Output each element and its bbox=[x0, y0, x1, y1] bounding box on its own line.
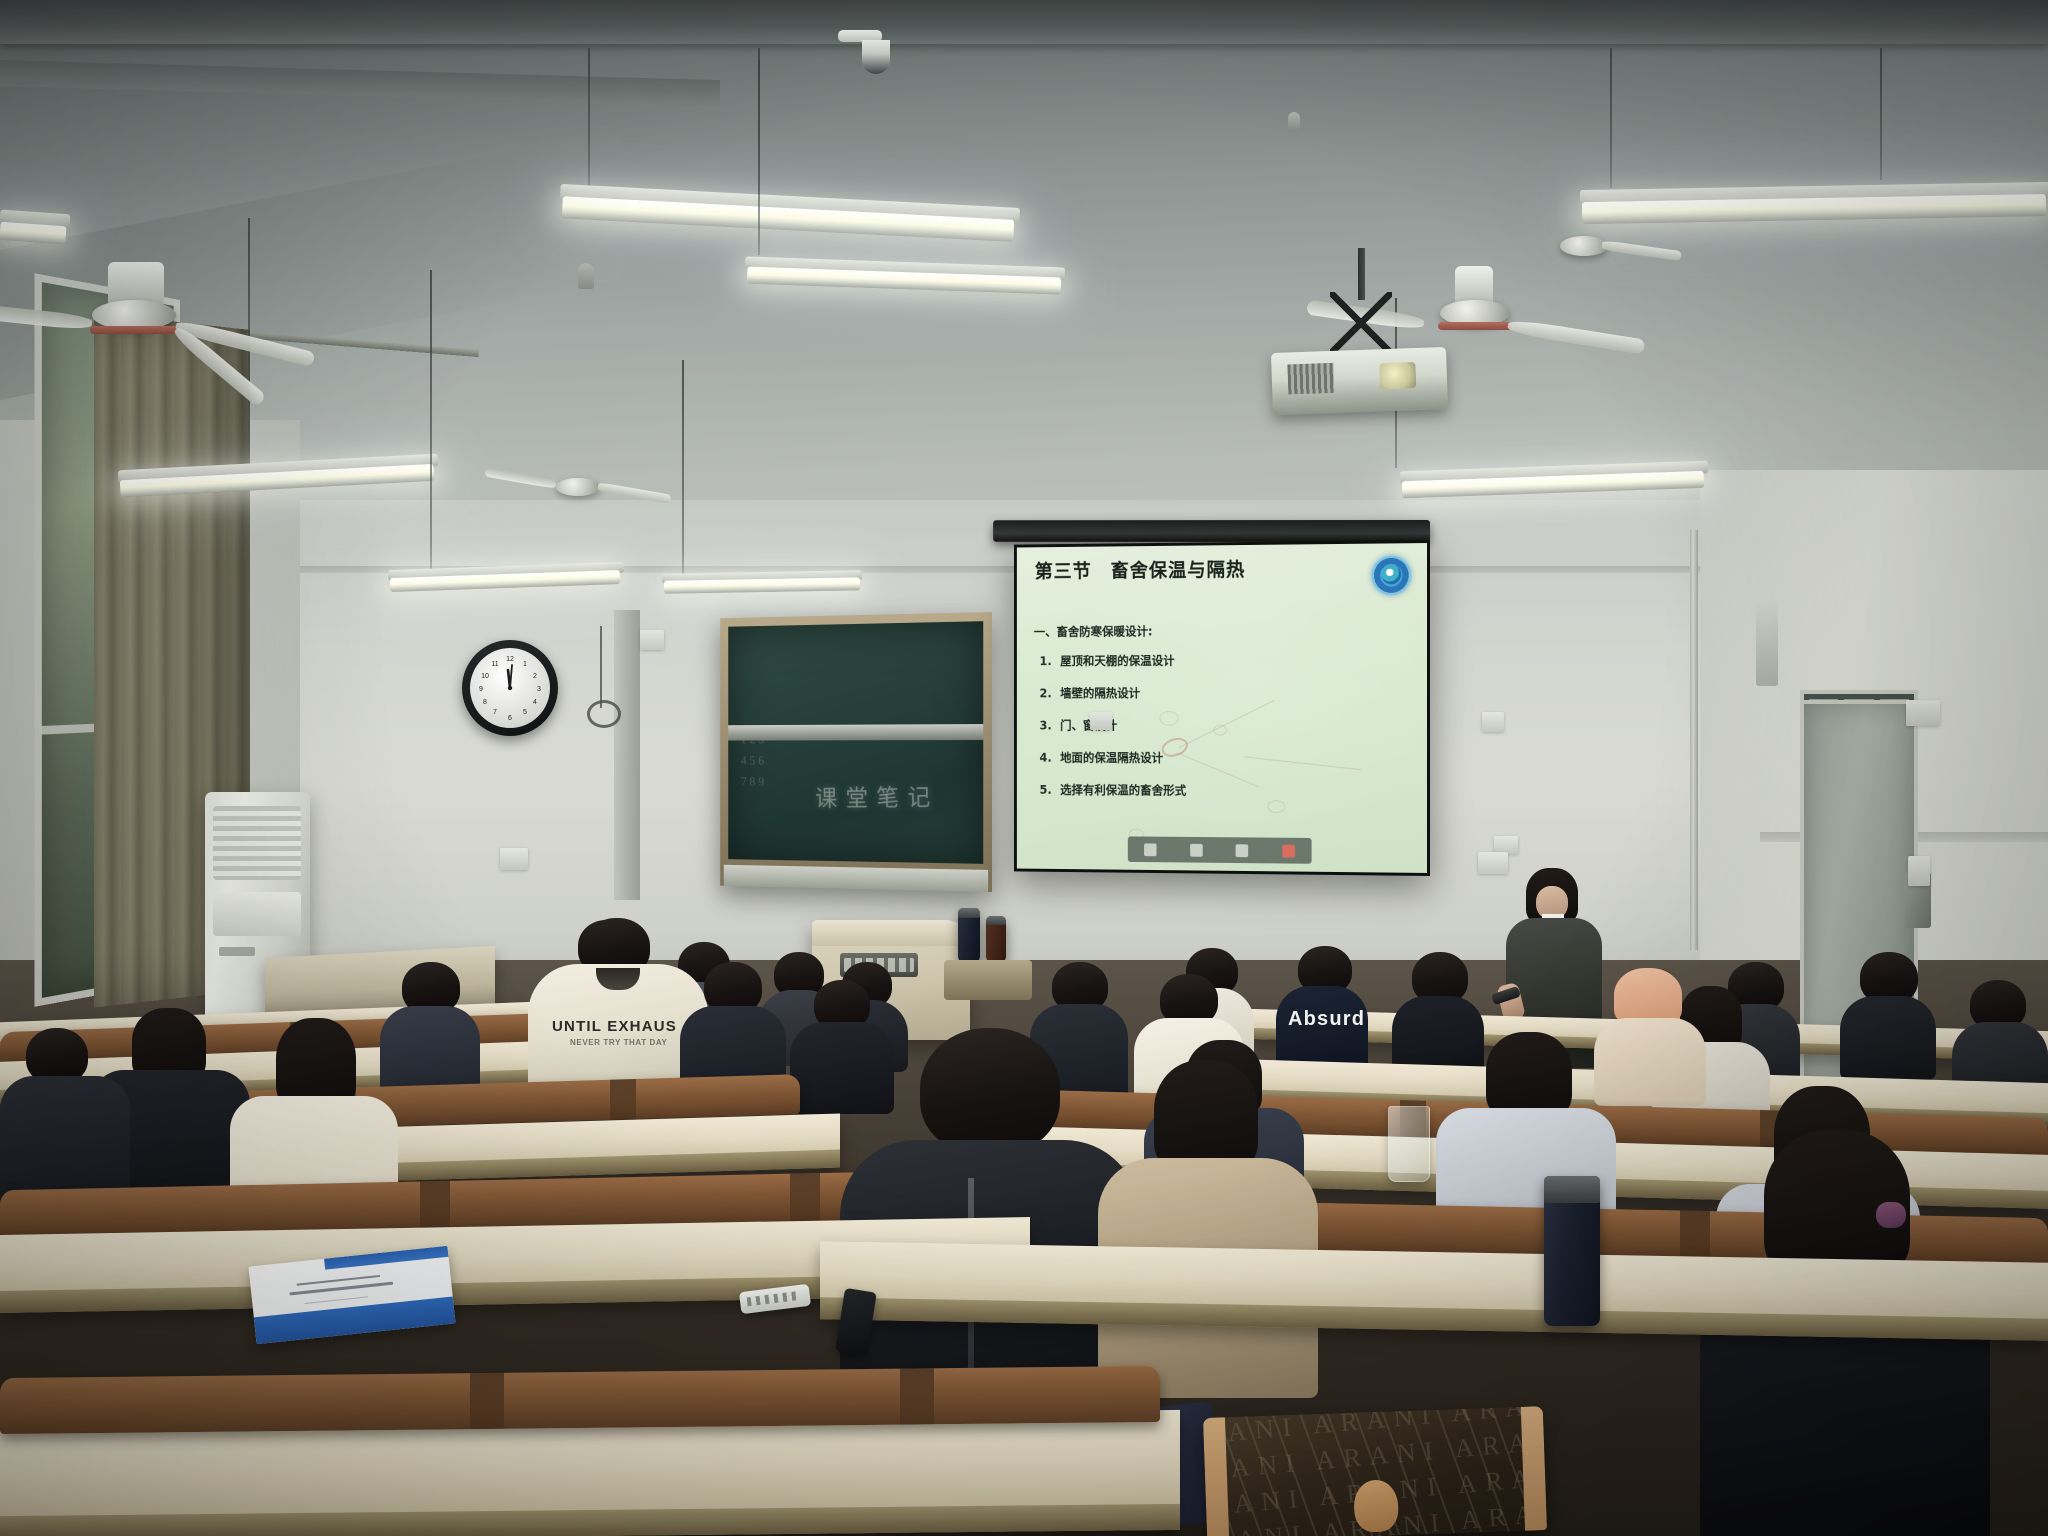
wall-speaker bbox=[1756, 600, 1778, 686]
svg-text:10: 10 bbox=[481, 673, 489, 680]
light-hanger-wire bbox=[758, 60, 760, 255]
security-camera bbox=[862, 40, 890, 74]
hoodie-main-text: UNTIL EXHAUS bbox=[552, 1018, 677, 1035]
university-emblem-icon bbox=[1372, 555, 1412, 595]
svg-text:11: 11 bbox=[491, 661, 498, 668]
slide-subtitle: 一、畜舍防寒保暖设计: bbox=[1034, 623, 1153, 640]
presentation-slide[interactable]: 第三节 畜舍保温与隔热 一、畜舍防寒保暖设计: 1. 屋顶和天棚的保温设计 2.… bbox=[1017, 543, 1427, 873]
classroom-photo: 1212 345 678 91011 课堂笔记 1 2 3 4 5 6 7 8 … bbox=[0, 0, 2048, 1536]
slide-bullet-number: 4. bbox=[1039, 751, 1051, 765]
grid-view-button[interactable] bbox=[1190, 843, 1203, 856]
blackboard: 课堂笔记 1 2 3 4 5 6 7 8 9 bbox=[720, 612, 992, 892]
pull-chain-ring[interactable] bbox=[587, 700, 621, 728]
slide-title: 第三节 畜舍保温与隔热 bbox=[1035, 555, 1246, 583]
slide-bullet-item: 5. 选择有利保温的畜舍形式 bbox=[1039, 781, 1186, 798]
light-hanger-wire bbox=[588, 48, 590, 208]
slide-bullet-number: 2. bbox=[1039, 687, 1051, 701]
slide-bullet-text: 屋顶和天棚的保温设计 bbox=[1060, 652, 1175, 669]
record-button[interactable] bbox=[1282, 844, 1295, 857]
hair-clip bbox=[1876, 1202, 1906, 1228]
presenter-toolbar[interactable] bbox=[1128, 836, 1312, 863]
light-hanger-wire bbox=[1610, 48, 1612, 188]
slide-bullet-text: 地面的保温隔热设计 bbox=[1060, 749, 1163, 766]
glass-water-cup[interactable] bbox=[1388, 1106, 1430, 1182]
pen-tool-button[interactable] bbox=[1144, 843, 1156, 856]
wall-outlet[interactable] bbox=[1908, 856, 1930, 886]
slide-bullet-list: 1. 屋顶和天棚的保温设计 2. 墙壁的隔热设计 3. 门、窗设计 4. 地面的… bbox=[1039, 652, 1186, 814]
handbag[interactable]: ARANI ARANI ARANI ARANI ARANI ARANI ARAN… bbox=[1203, 1406, 1547, 1536]
svg-text:8: 8 bbox=[483, 699, 487, 706]
screen-scratch bbox=[1244, 756, 1361, 770]
slide-bullet-item: 3. 门、窗设计 bbox=[1039, 717, 1186, 734]
clock-face: 1212 345 678 91011 bbox=[470, 648, 550, 728]
clock-hands-icon: 1212 345 678 91011 bbox=[470, 648, 550, 728]
slide-bullet-item: 2. 墙壁的隔热设计 bbox=[1039, 684, 1186, 701]
projector-mount-bracket bbox=[1330, 292, 1392, 354]
projection-screen[interactable]: 第三节 畜舍保温与隔热 一、畜舍防寒保暖设计: 1. 屋顶和天棚的保温设计 2.… bbox=[1014, 540, 1430, 876]
light-switch-plate[interactable] bbox=[1906, 700, 1940, 726]
blackboard-slider-panel[interactable] bbox=[728, 724, 983, 740]
slide-bullet-number: 1. bbox=[1039, 654, 1051, 668]
slide-bullet-item: 1. 屋顶和天棚的保温设计 bbox=[1039, 652, 1186, 669]
podium-bottle bbox=[958, 908, 980, 964]
blackboard-faint-mark: 4 5 6 bbox=[741, 753, 764, 768]
wall-outlet[interactable] bbox=[640, 630, 664, 650]
blackboard-faint-mark: 7 8 9 bbox=[741, 774, 764, 789]
slide-bullet-text: 墙壁的隔热设计 bbox=[1060, 684, 1140, 701]
wall-outlet[interactable] bbox=[1482, 712, 1504, 732]
pull-chain[interactable] bbox=[600, 626, 602, 708]
svg-text:3: 3 bbox=[537, 686, 541, 693]
blackboard-chalk-note: 课堂笔记 bbox=[815, 778, 939, 814]
wall-outlet[interactable] bbox=[1090, 712, 1112, 730]
svg-text:12: 12 bbox=[506, 656, 514, 663]
thermos-cap[interactable] bbox=[1544, 1176, 1600, 1203]
slide-bullet-number: 5. bbox=[1039, 783, 1051, 797]
screen-scratch bbox=[1178, 700, 1274, 748]
svg-text:1: 1 bbox=[523, 661, 527, 668]
navy-thermos[interactable] bbox=[1544, 1176, 1600, 1326]
wall-outlet[interactable] bbox=[500, 848, 528, 870]
ceiling-mount-knob bbox=[578, 263, 594, 289]
light-hanger-wire bbox=[682, 360, 684, 576]
ceiling-beam bbox=[0, 0, 2048, 44]
podium-bottle bbox=[986, 916, 1006, 964]
wall-conduit-pipe bbox=[1690, 530, 1698, 950]
ac-control-panel[interactable] bbox=[213, 892, 301, 936]
svg-text:5: 5 bbox=[523, 709, 527, 716]
student-head bbox=[920, 1028, 1060, 1154]
svg-text:4: 4 bbox=[533, 699, 537, 706]
svg-text:2: 2 bbox=[533, 673, 537, 680]
slide-bullet-number: 3. bbox=[1039, 719, 1051, 733]
screen-scuff bbox=[1268, 800, 1286, 813]
svg-text:9: 9 bbox=[479, 686, 483, 693]
hoodie-sub-text: NEVER TRY THAT DAY bbox=[570, 1038, 667, 1047]
svg-text:7: 7 bbox=[493, 709, 497, 716]
student bbox=[1098, 1060, 1318, 1380]
light-hanger-wire bbox=[1880, 48, 1882, 180]
pointer-button[interactable] bbox=[1236, 844, 1249, 857]
ac-vent-grille bbox=[213, 806, 301, 880]
blackboard-side-rail bbox=[614, 610, 640, 900]
ceiling-mount-knob bbox=[1288, 112, 1300, 130]
ceiling-projector bbox=[1271, 347, 1448, 415]
projector-vent bbox=[1287, 363, 1334, 395]
projection-screen-case bbox=[993, 520, 1430, 542]
wall-clock: 1212 345 678 91011 bbox=[462, 640, 558, 736]
slide-bullet-text: 选择有利保温的畜舍形式 bbox=[1060, 781, 1186, 798]
light-hanger-wire bbox=[430, 270, 432, 570]
blackboard-surface: 课堂笔记 1 2 3 4 5 6 7 8 9 bbox=[728, 621, 983, 864]
ac-brand-logo bbox=[219, 947, 255, 956]
svg-text:6: 6 bbox=[508, 715, 512, 722]
podium-top-surface bbox=[812, 920, 970, 946]
podium-storage-box bbox=[944, 960, 1032, 1000]
student bbox=[1840, 952, 1936, 1072]
jacket-word: Absurd bbox=[1288, 1008, 1365, 1031]
projector-lens bbox=[1379, 362, 1416, 389]
slide-bullet-item: 4. 地面的保温隔热设计 bbox=[1039, 749, 1186, 766]
